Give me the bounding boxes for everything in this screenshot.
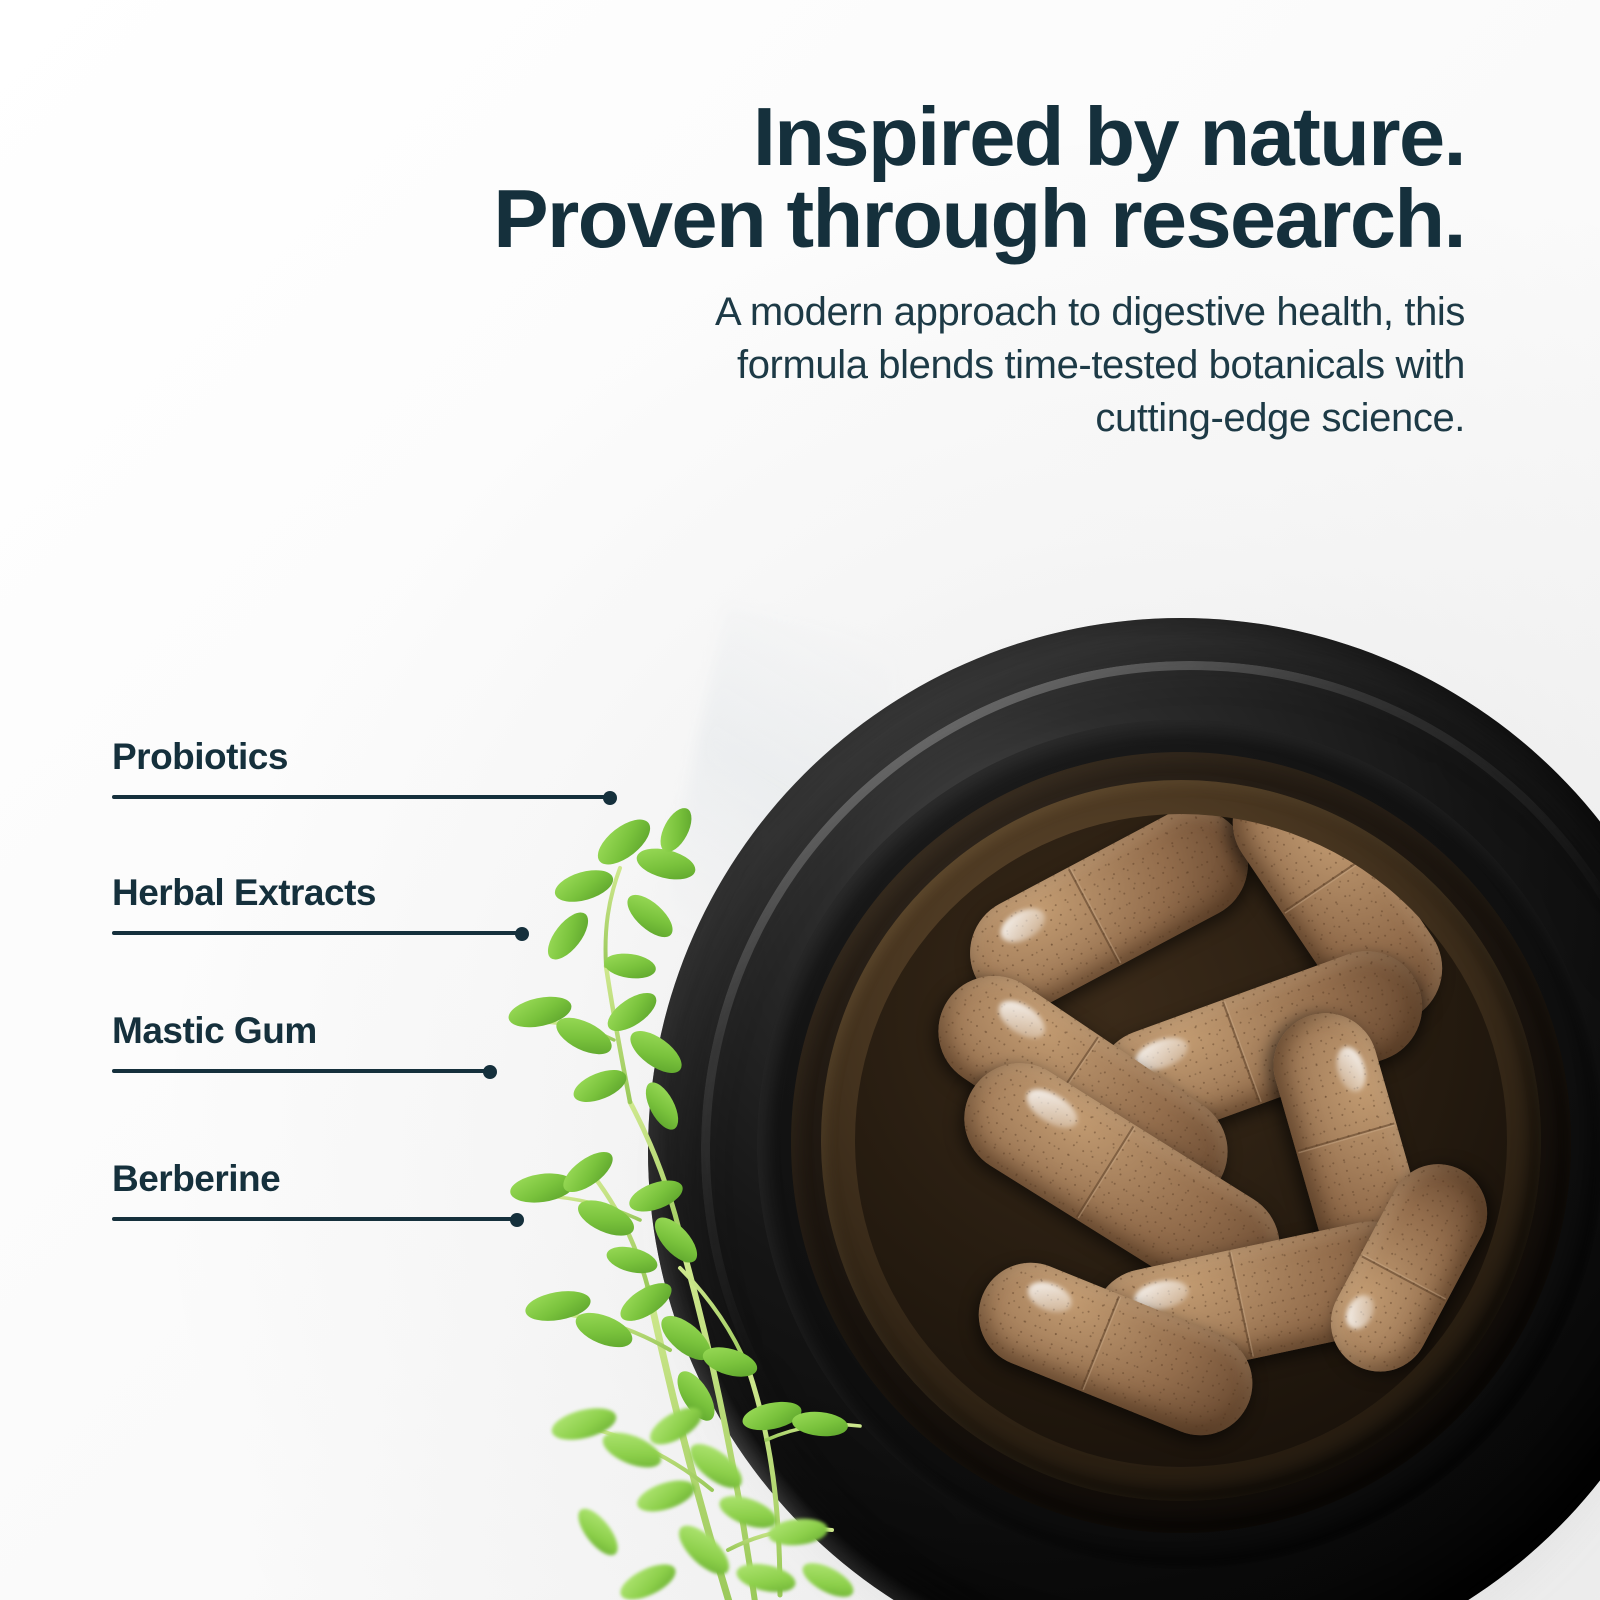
connector-line — [112, 1217, 517, 1221]
ingredient-callout-berberine: Berberine — [112, 1160, 280, 1225]
ingredient-callout-probiotics: Probiotics — [112, 738, 288, 803]
hero-text-block: Inspired by nature. Proven through resea… — [405, 96, 1465, 445]
connector-dot — [510, 1213, 524, 1227]
ingredient-callout-mastic-gum: Mastic Gum — [112, 1012, 317, 1077]
ingredient-label: Berberine — [112, 1160, 280, 1197]
connector-dot — [515, 927, 529, 941]
hero-subheading: A modern approach to digestive health, t… — [405, 286, 1465, 444]
product-jar — [648, 618, 1600, 1600]
headline-line-1: Inspired by nature. — [405, 96, 1465, 178]
headline-line-2: Proven through research. — [405, 178, 1465, 260]
ingredient-label: Probiotics — [112, 738, 288, 775]
connector-dot — [483, 1065, 497, 1079]
page-title: Inspired by nature. Proven through resea… — [405, 96, 1465, 260]
connector-line — [112, 931, 522, 935]
ingredient-connector — [112, 791, 288, 803]
marketing-banner: Inspired by nature. Proven through resea… — [0, 0, 1600, 1600]
ingredient-label: Mastic Gum — [112, 1012, 317, 1049]
ingredient-connector — [112, 927, 376, 939]
capsule-bed — [855, 814, 1507, 1466]
ingredient-label: Herbal Extracts — [112, 874, 376, 911]
ingredient-connector — [112, 1065, 317, 1077]
ingredient-callout-herbal-extracts: Herbal Extracts — [112, 874, 376, 939]
connector-dot — [603, 791, 617, 805]
connector-line — [112, 1069, 490, 1073]
ingredient-connector — [112, 1213, 280, 1225]
connector-line — [112, 795, 610, 799]
